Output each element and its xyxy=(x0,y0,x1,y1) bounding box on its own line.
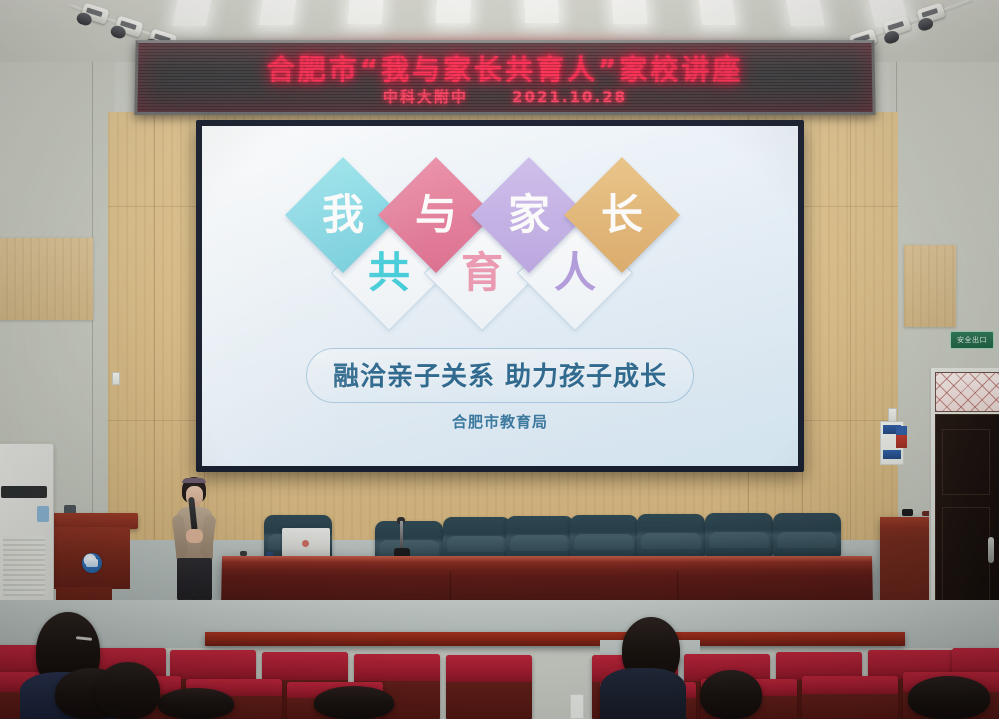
led-banner-school: 中科大附中 xyxy=(383,88,468,106)
light-switch-left[interactable] xyxy=(112,372,120,385)
paper-handout xyxy=(570,694,584,719)
audience-seat[interactable] xyxy=(446,655,532,719)
conference-chair xyxy=(705,513,773,557)
stage-front-edge xyxy=(205,632,905,646)
wall-sign-red xyxy=(896,426,907,448)
door-panel xyxy=(942,429,990,495)
title-char: 与 xyxy=(415,194,457,236)
audience-head xyxy=(96,662,160,719)
title-char: 我 xyxy=(322,194,364,236)
right-acoustic-panel xyxy=(904,245,956,327)
title-char: 育 xyxy=(461,252,503,294)
ac-vent xyxy=(1,486,47,498)
side-table-item xyxy=(902,509,913,516)
ceiling-light-panel xyxy=(347,0,384,24)
conference-chair xyxy=(570,515,638,559)
stage-spotlight xyxy=(80,2,109,24)
exit-sign-label: 安全出口 xyxy=(957,335,987,345)
ceiling-light-panel xyxy=(698,0,736,25)
led-banner-subline: 中科大附中2021.10.28 xyxy=(137,86,872,107)
door-transom-window xyxy=(935,372,999,412)
projection-screen-frame: 共 育 人 我 与 家 长 xyxy=(196,120,804,472)
projection-screen: 共 育 人 我 与 家 长 xyxy=(202,126,798,466)
left-acoustic-panel xyxy=(0,238,93,320)
conference-chair xyxy=(773,513,841,557)
auditorium-photo: 合肥市“我与家长共育人”家校讲座 中科大附中2021.10.28 共 育 人 我 xyxy=(0,0,999,719)
ceiling-light-panel xyxy=(259,0,297,25)
audience-shoulders xyxy=(600,668,686,719)
speaker-skirt xyxy=(177,558,212,601)
seat-cushion xyxy=(446,655,532,682)
table-highlight xyxy=(222,556,872,562)
ceiling-light-panel xyxy=(785,0,825,26)
led-banner-title: 合肥市“我与家长共育人”家校讲座 xyxy=(138,48,872,88)
microphone-stem xyxy=(400,521,403,549)
title-char: 共 xyxy=(368,252,410,294)
wall-sign-blue xyxy=(883,450,901,459)
ceiling-light-panel xyxy=(611,0,648,24)
ceiling-light-panel xyxy=(436,0,471,23)
slide-title-diamonds: 共 育 人 我 与 家 长 xyxy=(202,166,798,341)
audience-head xyxy=(908,676,990,719)
air-conditioner-unit xyxy=(0,443,54,603)
slide-subtitle: 融洽亲子关系 助力孩子成长 xyxy=(333,362,667,392)
audience-head xyxy=(158,688,234,719)
speaker-hairband xyxy=(182,478,206,483)
seat-cushion xyxy=(170,650,256,679)
conference-chair xyxy=(637,514,705,558)
slide-organization: 合肥市教育局 xyxy=(202,411,798,432)
laptop xyxy=(282,528,330,558)
title-char: 人 xyxy=(554,252,596,294)
led-banner: 合肥市“我与家长共育人”家校讲座 中科大附中2021.10.28 xyxy=(134,40,875,115)
slide-subtitle-pill: 融洽亲子关系 助力孩子成长 xyxy=(306,348,694,403)
school-crest-emblem xyxy=(82,553,102,573)
seat-cushion xyxy=(354,654,440,681)
ceiling-light-panel xyxy=(524,0,559,23)
stage-spotlight xyxy=(114,15,143,37)
stage-spotlight xyxy=(916,2,945,24)
door-handle[interactable] xyxy=(988,537,994,563)
speaker-hands xyxy=(186,529,203,543)
stage-spotlight xyxy=(882,15,911,37)
light-switch-right[interactable] xyxy=(888,408,897,422)
seat-cushion xyxy=(262,652,348,680)
exit-sign: 安全出口 xyxy=(950,331,994,349)
audience-head xyxy=(314,686,394,719)
audience-head xyxy=(700,670,762,719)
door-frame xyxy=(929,368,999,636)
audience-seat[interactable] xyxy=(802,676,898,719)
title-char: 家 xyxy=(508,194,550,236)
seat-cushion xyxy=(802,676,898,694)
ac-grill xyxy=(3,536,45,596)
conference-chair xyxy=(506,516,574,560)
led-banner-date: 2021.10.28 xyxy=(512,88,627,106)
ac-display xyxy=(37,506,49,522)
conference-chair xyxy=(443,517,511,561)
title-char: 长 xyxy=(601,194,643,236)
